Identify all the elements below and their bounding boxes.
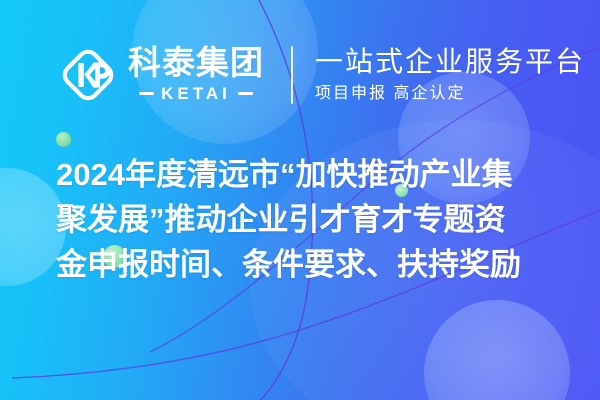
brand-name-english: KETAI (161, 84, 231, 104)
headline-line-2: 聚发展”推动企业引才育才专题资 (56, 197, 556, 242)
headline-line-1: 2024年度清远市“加快推动产业集 (56, 152, 556, 197)
banner-headline: 2024年度清远市“加快推动产业集 聚发展”推动企业引才育才专题资 金申报时间、… (56, 152, 556, 287)
tagline-primary: 一站式企业服务平台 (315, 47, 585, 78)
header-tagline: 一站式企业服务平台 项目申报 高企认定 (315, 47, 585, 102)
tagline-secondary: 项目申报 高企认定 (315, 85, 585, 103)
brand-logo[interactable]: 科泰集团 KETAI (58, 45, 264, 105)
wordmark-rule-left (139, 92, 154, 95)
banner-header: 科泰集团 KETAI 一站式企业服务平台 项目申报 高企认定 (0, 34, 600, 116)
headline-line-3: 金申报时间、条件要求、扶持奖励 (56, 242, 556, 287)
accent-dot-green-small (56, 132, 71, 147)
brand-name-english-row: KETAI (128, 84, 264, 104)
promotional-banner: 科泰集团 KETAI 一站式企业服务平台 项目申报 高企认定 2024年度清远市… (0, 0, 600, 400)
ketai-kp-monogram-icon (58, 45, 118, 105)
brand-name-chinese: 科泰集团 (128, 46, 264, 80)
header-divider (291, 46, 293, 104)
wordmark-rule-right (238, 92, 253, 95)
brand-logo-wordmark: 科泰集团 KETAI (128, 46, 264, 103)
background-circle-bottom-right (424, 300, 570, 400)
